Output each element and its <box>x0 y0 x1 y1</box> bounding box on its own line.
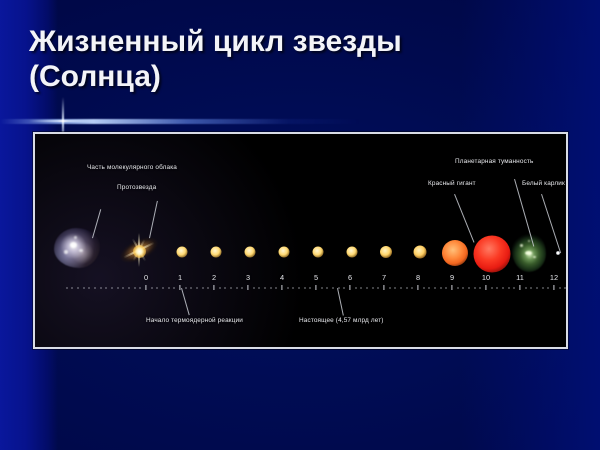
red-giant-star <box>474 236 511 273</box>
axis-major-tick <box>485 285 486 290</box>
axis-minor-tick <box>389 287 390 289</box>
axis-minor-tick <box>197 287 198 289</box>
axis-tick-label-11: 11 <box>516 274 524 282</box>
axis-minor-tick <box>378 287 379 289</box>
leader-line-fusion-start <box>181 288 190 315</box>
axis-minor-tick <box>208 287 209 289</box>
axis-minor-tick <box>174 287 175 289</box>
axis-major-tick <box>519 285 520 290</box>
axis-minor-tick <box>480 287 481 289</box>
axis-minor-tick <box>225 287 226 289</box>
axis-tick-label-7: 7 <box>382 274 386 282</box>
axis-minor-tick <box>463 287 464 289</box>
axis-tick-label-5: 5 <box>314 274 318 282</box>
axis-minor-tick <box>123 287 124 289</box>
main-sequence-star-2 <box>211 247 222 258</box>
axis-minor-tick <box>395 287 396 289</box>
axis-tick-label-3: 3 <box>246 274 250 282</box>
label-protostar: Протозвезда <box>117 184 156 192</box>
axis-tick-label-0: 0 <box>144 274 148 282</box>
axis-major-tick <box>553 285 554 290</box>
axis-minor-tick <box>151 287 152 289</box>
axis-minor-tick <box>163 287 164 289</box>
axis-major-tick <box>315 285 316 290</box>
axis-minor-tick <box>355 287 356 289</box>
axis-tick-label-12: 12 <box>550 274 558 282</box>
main-sequence-star-3 <box>245 247 256 258</box>
axis-minor-tick <box>168 287 169 289</box>
axis-minor-tick <box>559 287 560 289</box>
main-sequence-star-5 <box>313 247 324 258</box>
axis-minor-tick <box>236 287 237 289</box>
axis-minor-tick <box>157 287 158 289</box>
main-sequence-star-7 <box>380 246 392 258</box>
leader-line-molecular-cloud <box>92 209 101 238</box>
axis-minor-tick <box>78 287 79 289</box>
axis-minor-tick <box>514 287 515 289</box>
axis-minor-tick <box>565 287 566 289</box>
axis-minor-tick <box>361 287 362 289</box>
axis-major-tick <box>349 285 350 290</box>
axis-tick-label-4: 4 <box>280 274 284 282</box>
axis-minor-tick <box>338 287 339 289</box>
axis-major-tick <box>383 285 384 290</box>
axis-minor-tick <box>106 287 107 289</box>
axis-minor-tick <box>129 287 130 289</box>
axis-minor-tick <box>89 287 90 289</box>
label-molecular-cloud: Часть молекулярного облака <box>87 164 177 172</box>
star-lifecycle-diagram: Часть молекулярного облака Протозвезда К… <box>35 134 566 347</box>
axis-tick-label-2: 2 <box>212 274 216 282</box>
axis-tick-label-10: 10 <box>482 274 490 282</box>
axis-minor-tick <box>469 287 470 289</box>
axis-minor-tick <box>503 287 504 289</box>
label-red-giant: Красный гигант <box>428 180 476 188</box>
axis-minor-tick <box>412 287 413 289</box>
axis-major-tick <box>213 285 214 290</box>
axis-minor-tick <box>253 287 254 289</box>
axis-minor-tick <box>372 287 373 289</box>
presentation-slide: Жизненный цикл звезды (Солнца) <box>0 0 600 450</box>
subgiant-star <box>414 246 427 259</box>
axis-minor-tick <box>72 287 73 289</box>
main-sequence-star-4 <box>279 247 290 258</box>
axis-minor-tick <box>242 287 243 289</box>
axis-minor-tick <box>508 287 509 289</box>
axis-minor-tick <box>112 287 113 289</box>
axis-major-tick <box>179 285 180 290</box>
axis-minor-tick <box>333 287 334 289</box>
leader-line-present-day <box>337 288 344 316</box>
axis-minor-tick <box>265 287 266 289</box>
label-present-day: Настоящее (4,57 млрд лет) <box>299 317 384 325</box>
protostar-object <box>118 233 160 267</box>
axis-minor-tick <box>304 287 305 289</box>
axis-tick-label-1: 1 <box>178 274 182 282</box>
axis-minor-tick <box>435 287 436 289</box>
planetary-nebula-object <box>512 232 546 272</box>
axis-minor-tick <box>429 287 430 289</box>
axis-minor-tick <box>531 287 532 289</box>
axis-minor-tick <box>344 287 345 289</box>
axis-minor-tick <box>117 287 118 289</box>
main-sequence-star-1 <box>177 247 188 258</box>
axis-minor-tick <box>542 287 543 289</box>
axis-minor-tick <box>95 287 96 289</box>
axis-tick-label-9: 9 <box>450 274 454 282</box>
axis-minor-tick <box>100 287 101 289</box>
axis-minor-tick <box>474 287 475 289</box>
axis-major-tick <box>145 285 146 290</box>
axis-minor-tick <box>66 287 67 289</box>
axis-major-tick <box>451 285 452 290</box>
axis-minor-tick <box>231 287 232 289</box>
axis-minor-tick <box>299 287 300 289</box>
axis-minor-tick <box>134 287 135 289</box>
axis-minor-tick <box>202 287 203 289</box>
label-fusion-start: Начало термоядерной реакции <box>146 317 243 325</box>
axis-minor-tick <box>457 287 458 289</box>
axis-minor-tick <box>406 287 407 289</box>
axis-minor-tick <box>446 287 447 289</box>
axis-minor-tick <box>497 287 498 289</box>
axis-minor-tick <box>321 287 322 289</box>
axis-minor-tick <box>140 287 141 289</box>
figure-frame: Часть молекулярного облака Протозвезда К… <box>33 132 568 349</box>
axis-minor-tick <box>293 287 294 289</box>
axis-minor-tick <box>367 287 368 289</box>
axis-tick-label-8: 8 <box>416 274 420 282</box>
axis-minor-tick <box>440 287 441 289</box>
axis-minor-tick <box>276 287 277 289</box>
axis-minor-tick <box>191 287 192 289</box>
axis-minor-tick <box>491 287 492 289</box>
axis-minor-tick <box>327 287 328 289</box>
axis-minor-tick <box>287 287 288 289</box>
axis-tick-label-6: 6 <box>348 274 352 282</box>
axis-major-tick <box>247 285 248 290</box>
axis-major-tick <box>417 285 418 290</box>
axis-minor-tick <box>185 287 186 289</box>
axis-minor-tick <box>423 287 424 289</box>
axis-minor-tick <box>310 287 311 289</box>
axis-minor-tick <box>401 287 402 289</box>
axis-minor-tick <box>219 287 220 289</box>
axis-minor-tick <box>259 287 260 289</box>
axis-major-tick <box>281 285 282 290</box>
axis-minor-tick <box>525 287 526 289</box>
orange-giant-star <box>442 240 468 266</box>
main-sequence-star-6 <box>347 247 358 258</box>
slide-title: Жизненный цикл звезды (Солнца) <box>29 24 574 94</box>
axis-minor-tick <box>548 287 549 289</box>
axis-minor-tick <box>83 287 84 289</box>
axis-minor-tick <box>537 287 538 289</box>
leader-line-red-giant <box>454 194 474 243</box>
label-planetary-nebula: Планетарная туманность <box>455 158 533 166</box>
label-white-dwarf: Белый карлик <box>522 180 565 188</box>
axis-minor-tick <box>270 287 271 289</box>
